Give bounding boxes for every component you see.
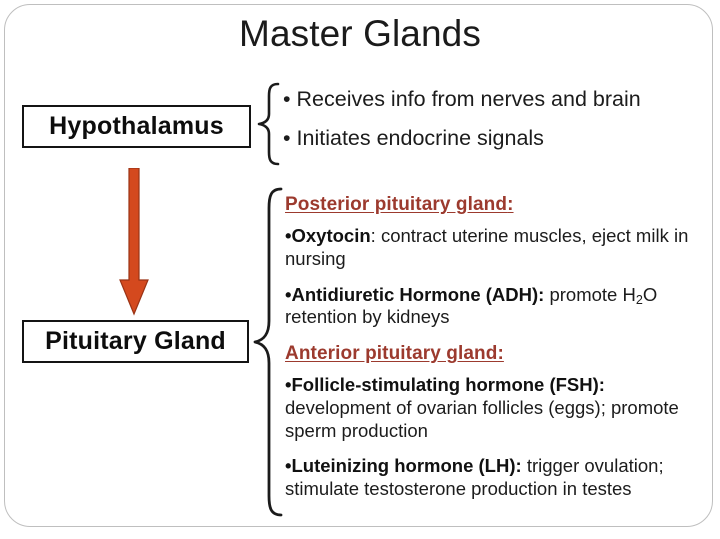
hormone-item-lh: •Luteinizing hormone (LH): trigger ovula… <box>285 455 703 501</box>
hormone-name-adh: •Antidiuretic Hormone (ADH): <box>285 284 544 305</box>
curly-brace-icon-main <box>250 186 284 518</box>
hormone-separator: : <box>371 225 381 246</box>
curly-brace-icon-top <box>252 82 282 166</box>
list-item-label: Initiates endocrine signals <box>297 126 544 150</box>
pituitary-details-panel: Posterior pituitary gland: •Oxytocin: co… <box>285 194 703 501</box>
gland-box-hypothalamus: Hypothalamus <box>22 105 251 148</box>
gland-label-pituitary: Pituitary Gland <box>45 327 226 356</box>
gland-box-pituitary: Pituitary Gland <box>22 320 249 363</box>
hormone-name-label: Luteinizing hormone (LH): <box>291 455 521 476</box>
hormone-name-label: Oxytocin <box>291 225 370 246</box>
hormone-name-label: Antidiuretic Hormone (ADH): <box>291 284 544 305</box>
hormone-name-oxytocin: •Oxytocin <box>285 225 371 246</box>
hormone-name-fsh: •Follicle-stimulating hormone (FSH): <box>285 374 605 395</box>
list-item-label: Receives info from nerves and brain <box>297 87 641 111</box>
hormone-item-adh: •Antidiuretic Hormone (ADH): promote H2O… <box>285 284 703 330</box>
section-heading-anterior-colon: : <box>497 343 503 364</box>
hormone-item-fsh: •Follicle-stimulating hormone (FSH): dev… <box>285 374 703 442</box>
hormone-name-label: Follicle-stimulating hormone (FSH): <box>291 374 604 395</box>
section-heading-anterior-label: Anterior pituitary gland <box>285 343 497 364</box>
section-heading-posterior-colon: : <box>507 194 513 215</box>
hypothalamus-function-list: •Receives info from nerves and brain •In… <box>283 86 703 164</box>
section-heading-posterior: Posterior pituitary gland: <box>285 194 703 216</box>
section-heading-anterior: Anterior pituitary gland: <box>285 343 703 365</box>
slide-canvas: Master Glands Hypothalamus •Receives inf… <box>0 0 720 539</box>
bullet-icon: • <box>283 125 291 151</box>
hormone-name-lh: •Luteinizing hormone (LH): <box>285 455 522 476</box>
hormone-description: promote H <box>549 284 635 305</box>
gland-label-hypothalamus: Hypothalamus <box>49 112 224 141</box>
down-arrow-icon <box>112 168 156 316</box>
page-title: Master Glands <box>0 14 720 55</box>
bullet-icon: • <box>283 86 291 112</box>
subscript-two: 2 <box>636 293 643 307</box>
list-item: •Receives info from nerves and brain <box>283 86 703 112</box>
section-heading-posterior-label: Posterior pituitary gland <box>285 194 507 215</box>
hormone-description: development of ovarian follicles (eggs);… <box>285 397 679 441</box>
hormone-item-oxytocin: •Oxytocin: contract uterine muscles, eje… <box>285 225 703 271</box>
list-item: •Initiates endocrine signals <box>283 125 703 151</box>
